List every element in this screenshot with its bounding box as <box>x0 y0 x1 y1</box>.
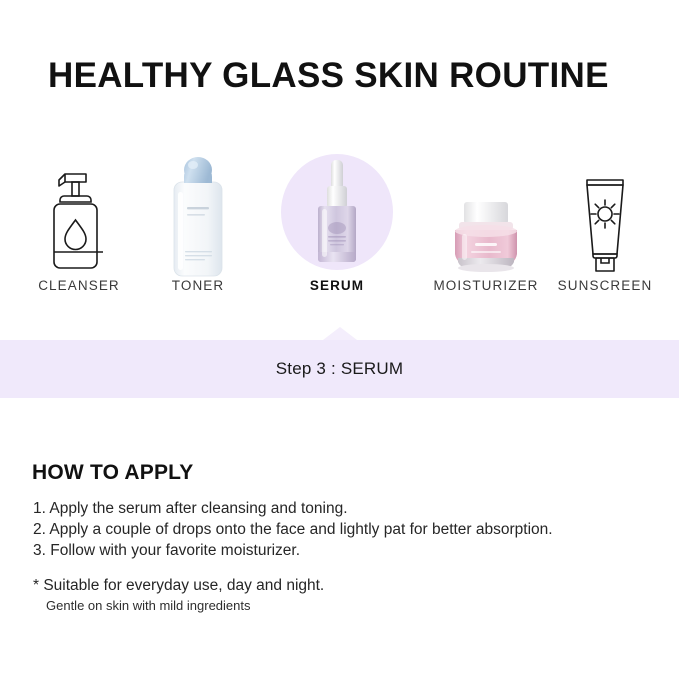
page-title: HEALTHY GLASS SKIN ROUTINE <box>48 56 609 96</box>
routine-step-label: SERUM <box>281 278 393 293</box>
step-banner-text: Step 3 : SERUM <box>276 359 404 379</box>
usage-note-main: * Suitable for everyday use, day and nig… <box>33 575 643 596</box>
toner-bottle-icon <box>142 150 254 278</box>
usage-note: * Suitable for everyday use, day and nig… <box>33 575 643 616</box>
routine-step-sunscreen[interactable]: SUNSCREEN <box>549 150 661 320</box>
routine-step-moisturizer[interactable]: MOISTURIZER <box>430 150 542 320</box>
dropper-bottle-icon <box>281 150 393 278</box>
routine-steps: CLEANSER › <box>0 150 679 320</box>
sunscreen-tube-icon <box>549 150 661 278</box>
usage-note-sub: Gentle on skin with mild ingredients <box>33 596 643 616</box>
how-to-apply-item: 1. Apply the serum after cleansing and t… <box>33 498 643 519</box>
how-to-apply-item: 3. Follow with your favorite moisturizer… <box>33 540 643 561</box>
how-to-apply-heading: HOW TO APPLY <box>32 461 193 485</box>
routine-step-cleanser[interactable]: CLEANSER <box>23 150 135 320</box>
banner-notch-icon <box>323 327 357 340</box>
routine-step-label: SUNSCREEN <box>549 278 661 293</box>
routine-step-label: MOISTURIZER <box>430 278 542 293</box>
routine-step-label: TONER <box>142 278 254 293</box>
how-to-apply-list: 1. Apply the serum after cleansing and t… <box>33 498 643 561</box>
pump-bottle-icon <box>23 150 135 278</box>
routine-step-serum[interactable]: SERUM <box>281 150 393 320</box>
routine-step-label: CLEANSER <box>23 278 135 293</box>
how-to-apply-item: 2. Apply a couple of drops onto the face… <box>33 519 643 540</box>
cream-jar-icon <box>430 150 542 278</box>
step-banner: Step 3 : SERUM <box>0 340 679 398</box>
routine-step-toner[interactable]: TONER <box>142 150 254 320</box>
